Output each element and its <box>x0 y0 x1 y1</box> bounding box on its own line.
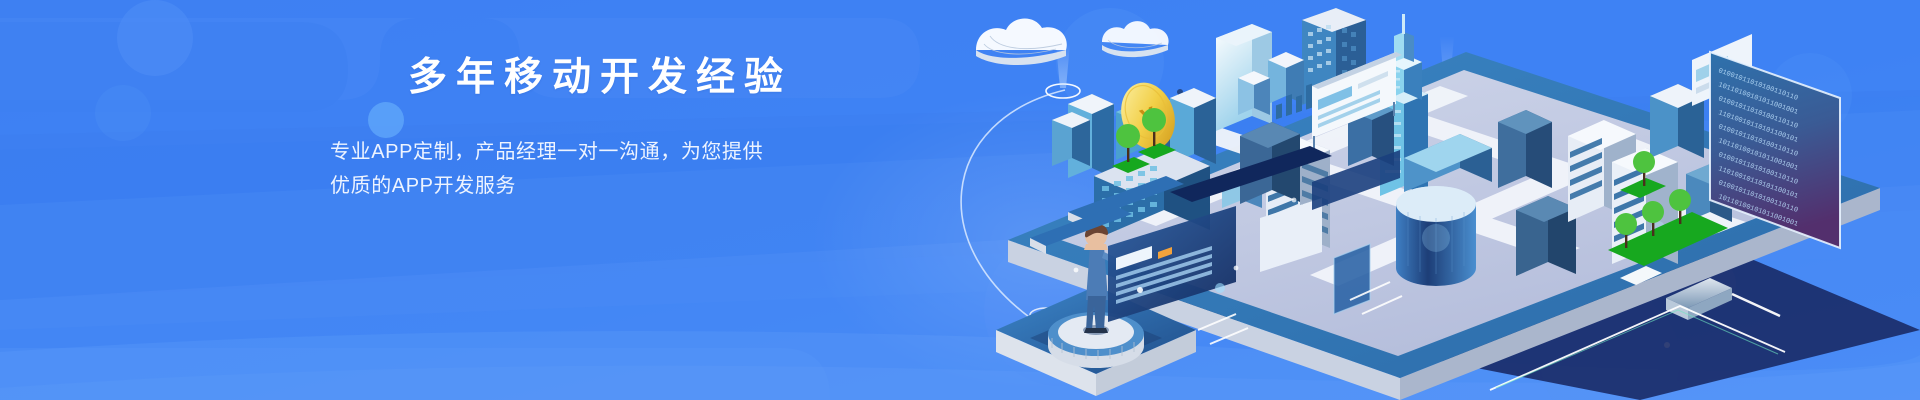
subtitle-line-2: 优质的APP开发服务 <box>330 169 800 203</box>
subtitle: 专业APP定制，产品经理一对一沟通，为您提供 优质的APP开发服务 <box>330 135 800 203</box>
promo-banner: 多年移动开发经验 专业APP定制，产品经理一对一沟通，为您提供 优质的APP开发… <box>0 0 1920 400</box>
spark-4 <box>1292 198 1297 203</box>
cloud-icon-small <box>1102 21 1169 57</box>
copy-block: 多年移动开发经验 专业APP定制，产品经理一对一沟通，为您提供 优质的APP开发… <box>330 56 850 203</box>
building-cylinder-tower <box>1396 186 1476 286</box>
circle-decor-2 <box>95 85 151 141</box>
spark-2 <box>1074 268 1079 273</box>
spark-1 <box>1137 287 1143 293</box>
hero-illustration: ¥ <box>880 0 1920 400</box>
spark-3 <box>1234 266 1239 271</box>
building-back-left-edge <box>1052 112 1090 166</box>
isometric-city-svg: ¥ <box>880 0 1920 400</box>
building-right-dark-1 <box>1498 110 1552 188</box>
cloud-icon <box>976 18 1067 65</box>
blob-bottom-left <box>0 348 830 400</box>
circle-decor-1 <box>117 0 193 76</box>
page-title: 多年移动开发经验 <box>408 56 850 101</box>
subtitle-line-1: 专业APP定制，产品经理一对一沟通，为您提供 <box>330 135 800 169</box>
